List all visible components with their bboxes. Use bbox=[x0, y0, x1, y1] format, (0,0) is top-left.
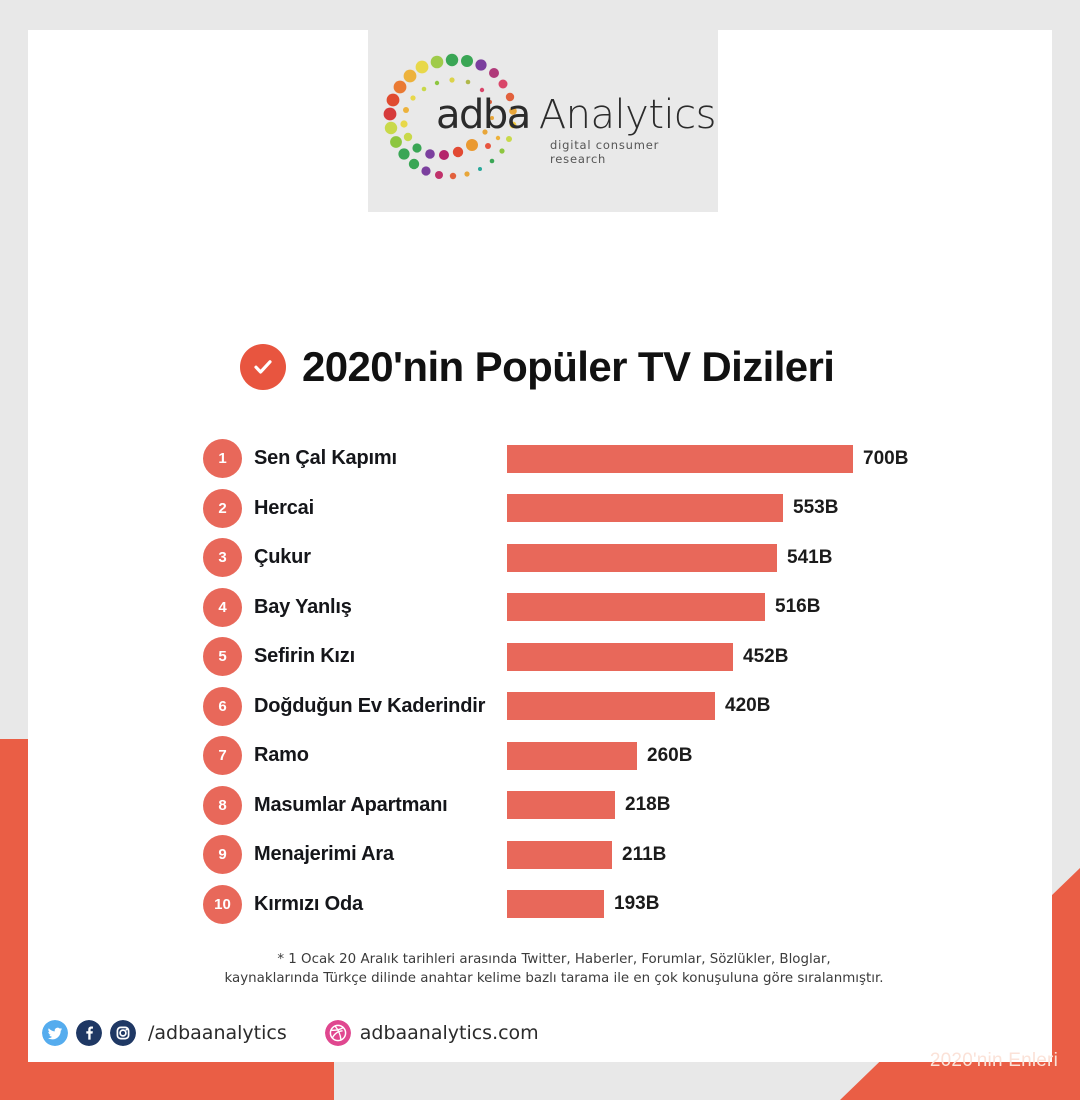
bottom-left-accent-bar bbox=[0, 1062, 334, 1100]
check-circle-icon bbox=[240, 344, 286, 390]
twitter-icon[interactable] bbox=[42, 1020, 68, 1046]
bar bbox=[507, 791, 615, 819]
bar bbox=[507, 841, 612, 869]
dribbble-icon[interactable] bbox=[325, 1020, 351, 1046]
facebook-icon[interactable] bbox=[76, 1020, 102, 1046]
ranking-chart: 1 Sen Çal Kapımı 700B 2 Hercai 553B 3 Çu… bbox=[28, 434, 1052, 929]
rank-badge: 4 bbox=[203, 588, 242, 627]
bar-group: 700B bbox=[507, 445, 908, 473]
bar bbox=[507, 643, 733, 671]
rank-badge: 1 bbox=[203, 439, 242, 478]
table-row: 1 Sen Çal Kapımı 700B bbox=[28, 434, 1052, 484]
website-group[interactable]: adbaanalytics.com bbox=[325, 1020, 539, 1046]
bar bbox=[507, 742, 637, 770]
series-label: Masumlar Apartmanı bbox=[254, 794, 448, 817]
infographic-canvas: 2020'nin Enleri bbox=[0, 0, 1080, 1100]
bar-value-label: 541B bbox=[787, 547, 832, 569]
rank-badge: 9 bbox=[203, 835, 242, 874]
bar-group: 260B bbox=[507, 742, 692, 770]
bar-value-label: 218B bbox=[625, 794, 670, 816]
bar-group: 211B bbox=[507, 841, 666, 869]
bar-group: 516B bbox=[507, 593, 820, 621]
bar-value-label: 260B bbox=[647, 745, 692, 767]
bar bbox=[507, 692, 715, 720]
content-card: adba Analytics digital consumer research… bbox=[28, 30, 1052, 1062]
bar bbox=[507, 494, 783, 522]
rank-badge: 7 bbox=[203, 736, 242, 775]
bar-group: 420B bbox=[507, 692, 770, 720]
series-label: Menajerimi Ara bbox=[254, 843, 394, 866]
bar-value-label: 700B bbox=[863, 448, 908, 470]
instagram-icon[interactable] bbox=[110, 1020, 136, 1046]
bar-group: 193B bbox=[507, 890, 659, 918]
bar-value-label: 193B bbox=[614, 893, 659, 915]
series-label: Çukur bbox=[254, 546, 311, 569]
bar-group: 553B bbox=[507, 494, 838, 522]
rank-badge: 10 bbox=[203, 885, 242, 924]
series-label: Ramo bbox=[254, 744, 309, 767]
left-accent-bar bbox=[0, 739, 28, 1100]
bar-value-label: 553B bbox=[793, 497, 838, 519]
website-text[interactable]: adbaanalytics.com bbox=[360, 1022, 539, 1044]
rank-badge: 2 bbox=[203, 489, 242, 528]
series-label: Kırmızı Oda bbox=[254, 893, 363, 916]
bar bbox=[507, 890, 604, 918]
logo-tagline: digital consumer research bbox=[550, 138, 708, 166]
table-row: 7 Ramo 260B bbox=[28, 731, 1052, 781]
bar-value-label: 516B bbox=[775, 596, 820, 618]
footnote: * 1 Ocak 20 Aralık tarihleri arasında Tw… bbox=[214, 950, 894, 989]
brand-logo-block: adba Analytics digital consumer research bbox=[368, 30, 718, 212]
corner-label: 2020'nin Enleri bbox=[930, 1050, 1058, 1072]
series-label: Sen Çal Kapımı bbox=[254, 447, 397, 470]
footnote-line-1: * 1 Ocak 20 Aralık tarihleri arasında Tw… bbox=[277, 952, 830, 967]
table-row: 2 Hercai 553B bbox=[28, 484, 1052, 534]
series-label: Bay Yanlış bbox=[254, 596, 352, 619]
bar-value-label: 452B bbox=[743, 646, 788, 668]
rank-badge: 3 bbox=[203, 538, 242, 577]
footnote-line-2: kaynaklarında Türkçe dilinde anahtar kel… bbox=[214, 969, 894, 988]
rank-badge: 8 bbox=[203, 786, 242, 825]
table-row: 5 Sefirin Kızı 452B bbox=[28, 632, 1052, 682]
bar-group: 218B bbox=[507, 791, 670, 819]
logo-primary-text: adba bbox=[436, 92, 530, 138]
table-row: 4 Bay Yanlış 516B bbox=[28, 583, 1052, 633]
rank-badge: 6 bbox=[203, 687, 242, 726]
table-row: 8 Masumlar Apartmanı 218B bbox=[28, 781, 1052, 831]
series-label: Doğduğun Ev Kaderindir bbox=[254, 695, 485, 718]
bar-group: 452B bbox=[507, 643, 788, 671]
bar-group: 541B bbox=[507, 544, 832, 572]
social-handle[interactable]: /adbaanalytics bbox=[148, 1022, 287, 1044]
social-footer: /adbaanalytics adbaanalytics.com bbox=[42, 1020, 539, 1046]
page-title-text: 2020'nin Popüler TV Dizileri bbox=[302, 343, 834, 391]
rank-badge: 5 bbox=[203, 637, 242, 676]
bar-value-label: 420B bbox=[725, 695, 770, 717]
table-row: 6 Doğduğun Ev Kaderindir 420B bbox=[28, 682, 1052, 732]
bar bbox=[507, 544, 777, 572]
table-row: 10 Kırmızı Oda 193B bbox=[28, 880, 1052, 930]
bar bbox=[507, 445, 853, 473]
page-title: 2020'nin Popüler TV Dizileri bbox=[240, 343, 834, 391]
bar-value-label: 211B bbox=[622, 844, 666, 866]
table-row: 3 Çukur 541B bbox=[28, 533, 1052, 583]
series-label: Sefirin Kızı bbox=[254, 645, 355, 668]
logo-secondary-text: Analytics bbox=[539, 92, 716, 138]
series-label: Hercai bbox=[254, 497, 314, 520]
bar bbox=[507, 593, 765, 621]
table-row: 9 Menajerimi Ara 211B bbox=[28, 830, 1052, 880]
